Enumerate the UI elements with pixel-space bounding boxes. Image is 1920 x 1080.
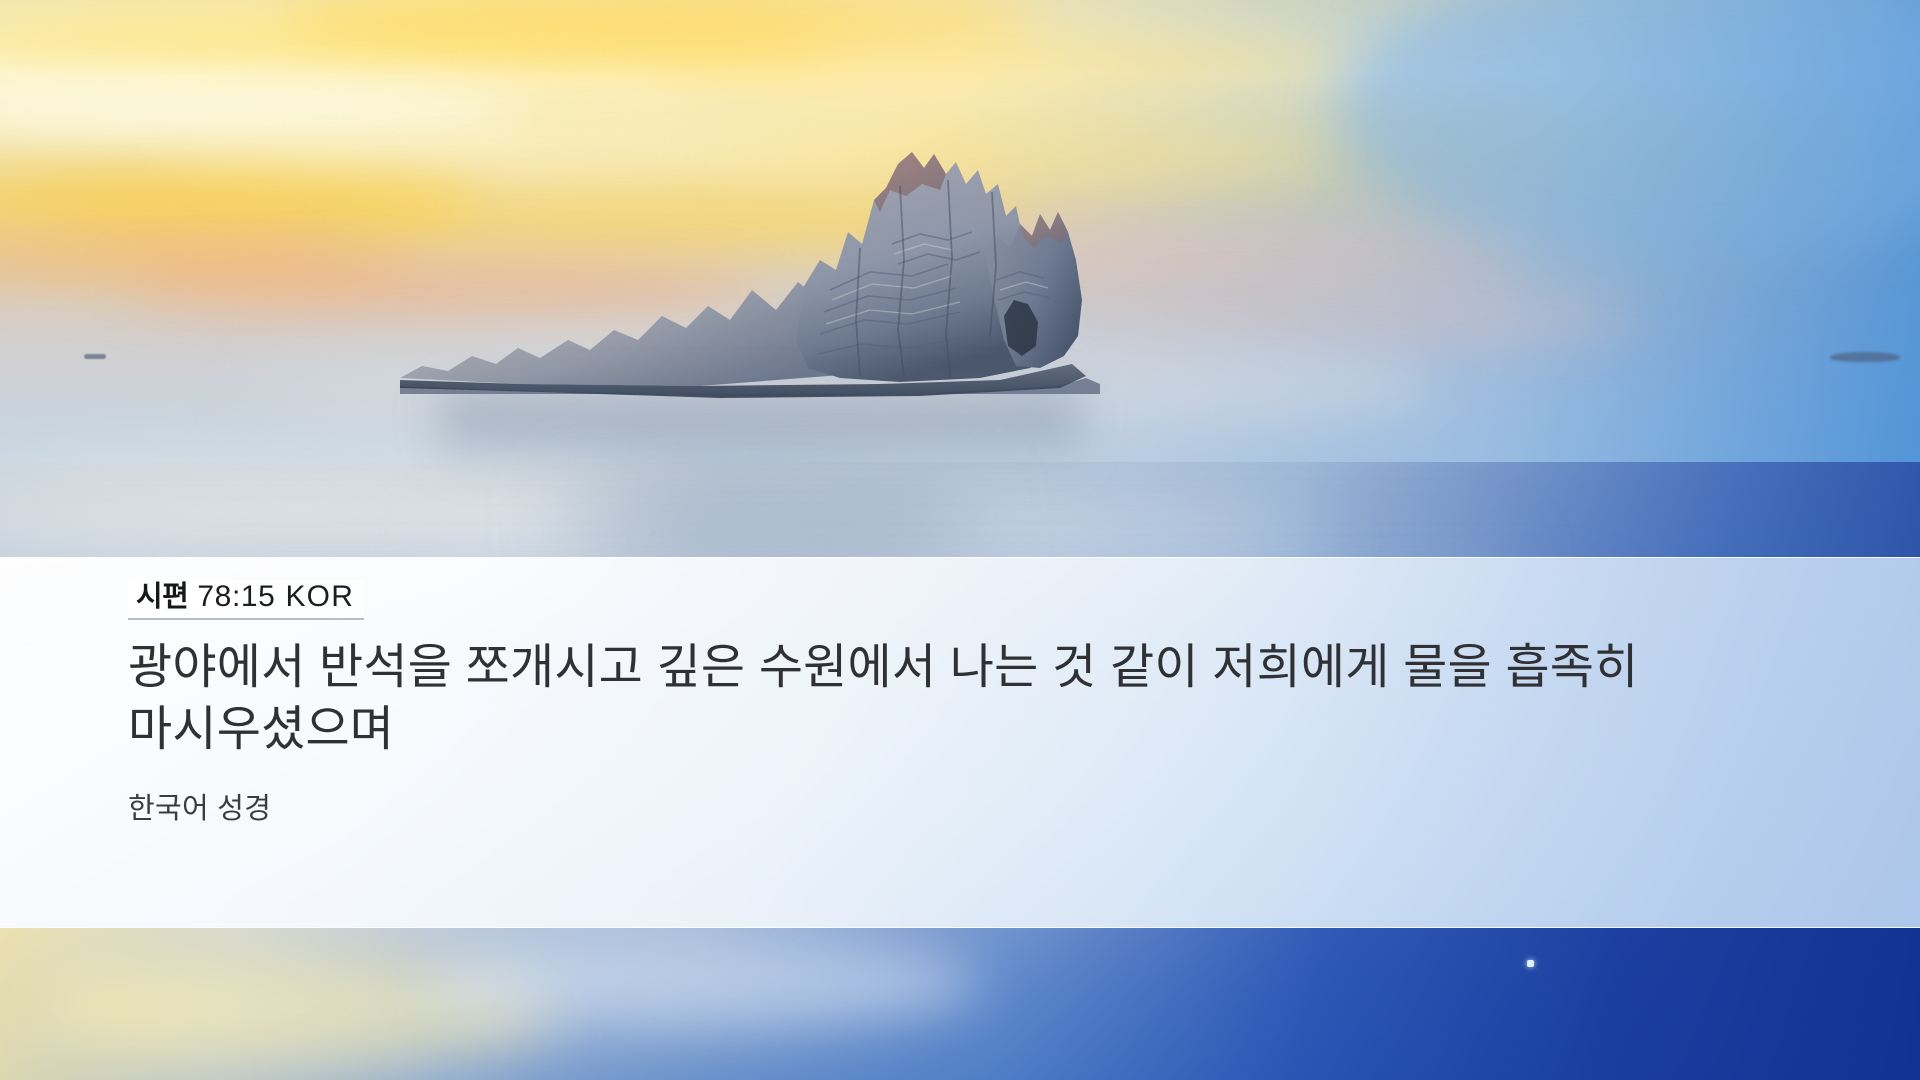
cloud-haze-right (1340, 0, 1920, 260)
cloud-streak-12 (1080, 300, 1640, 340)
rock-island-illustration (400, 140, 1100, 400)
verse-card-content: 시편78:15KOR 광야에서 반석을 쪼개시고 깊은 수원에서 나는 것 같이… (128, 580, 1800, 827)
foreground-water-foam (420, 938, 980, 1028)
verse-reference-book: 시편 (136, 581, 188, 613)
verse-reference-version: KOR (285, 580, 354, 613)
cloud-streak-8 (0, 238, 410, 282)
cloud-streak-1 (0, 8, 840, 78)
verse-body-text: 광야에서 반석을 쪼개시고 깊은 수원에서 나는 것 같이 저희에게 물을 흡족… (128, 637, 1758, 762)
verse-card: 시편78:15KOR 광야에서 반석을 쪼개시고 깊은 수원에서 나는 것 같이… (0, 557, 1920, 928)
verse-image: 시편78:15KOR 광야에서 반석을 쪼개시고 깊은 수원에서 나는 것 같이… (0, 0, 1920, 1080)
cloud-streak-2 (280, 0, 1040, 52)
cloud-streak-3 (640, 36, 1360, 94)
verse-reference-chapter-verse: 78:15 (197, 580, 275, 613)
water-sparkle-icon (1527, 960, 1534, 967)
distant-rock-right (1830, 352, 1900, 362)
distant-boat-icon (84, 354, 106, 359)
cloud-streak-4 (0, 86, 530, 140)
verse-source-label: 한국어 성경 (128, 785, 1800, 827)
verse-reference: 시편78:15KOR (128, 580, 364, 620)
